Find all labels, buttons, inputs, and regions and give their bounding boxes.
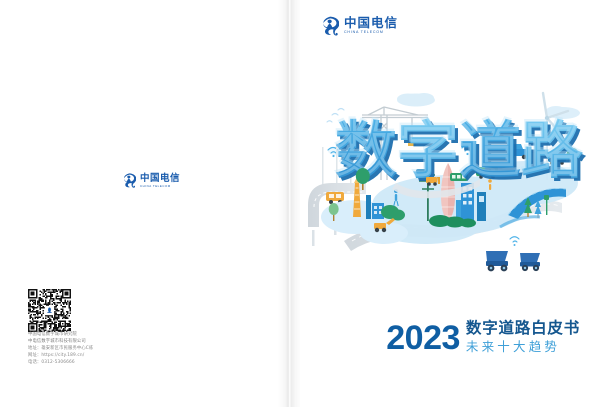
qr-code-canvas	[28, 289, 71, 332]
cover-title-texts: 数字道路白皮书 未来十大趋势	[466, 321, 580, 354]
cover-subtitle: 未来十大趋势	[466, 341, 580, 354]
contact-website[interactable]: 网址：https://city.189.cn/	[28, 352, 228, 359]
front-cover-wordmark: 中国电信 CHINA TELECOM	[344, 17, 398, 35]
contact-address: 地址：雄安新区市民服务中心C栋	[28, 345, 228, 352]
contact-org: 中国电信数字城市研究院	[28, 331, 228, 338]
back-cover-logo-cn: 中国电信	[140, 174, 180, 184]
front-cover-page: 中国电信 CHINA TELECOM	[300, 0, 600, 407]
back-cover-page: 中国电信 CHINA TELECOM 中国电信数字城市研究院 中电信数字城市科技…	[0, 0, 289, 407]
mining-truck-icon	[520, 253, 540, 271]
contact-phone: 电话：0312-5306666	[28, 359, 228, 366]
back-cover-logo-en: CHINA TELECOM	[140, 185, 180, 188]
back-cover-contact-block: 中国电信数字城市研究院 中电信数字城市科技有限公司 地址：雄安新区市民服务中心C…	[28, 331, 228, 366]
qr-code-icon[interactable]	[28, 289, 71, 332]
back-cover-brand-logo: 中国电信 CHINA TELECOM	[123, 173, 180, 188]
back-cover-wordmark: 中国电信 CHINA TELECOM	[140, 174, 180, 188]
cover-main-title: 数字道路白皮书	[466, 321, 580, 337]
china-telecom-logo-icon	[123, 173, 136, 188]
smart-city-digital-road-illustration: 数 字 道 路 数 字 道 路 数字道路	[300, 55, 600, 300]
front-cover-logo-en: CHINA TELECOM	[344, 31, 398, 35]
title-char-highlight: 数字道路	[334, 112, 583, 185]
contact-company: 中电信数字城市科技有限公司	[28, 338, 228, 345]
china-telecom-logo-icon	[322, 16, 339, 36]
front-cover-brand-logo: 中国电信 CHINA TELECOM	[322, 16, 398, 36]
cover-year: 2023	[386, 323, 460, 354]
cloud-icon	[397, 93, 435, 107]
front-cover-logo-cn: 中国电信	[344, 17, 398, 30]
title-artwork-group: 数 字 道 路 数 字 道 路 数字道路	[334, 112, 587, 190]
mining-truck-icon	[486, 251, 508, 271]
cover-spread: 中国电信 CHINA TELECOM 中国电信数字城市研究院 中电信数字城市科技…	[0, 0, 600, 407]
wifi-signal-icon	[510, 237, 519, 246]
cover-title-block: 2023 数字道路白皮书 未来十大趋势	[386, 321, 580, 354]
